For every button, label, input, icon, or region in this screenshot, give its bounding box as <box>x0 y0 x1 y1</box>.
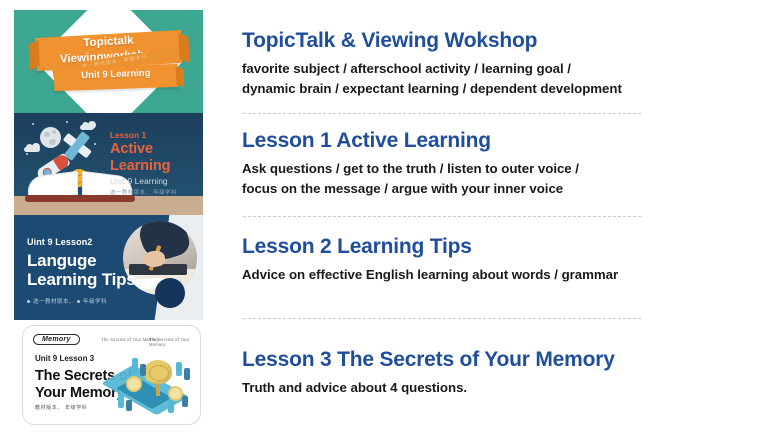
section-title: Lesson 2 Learning Tips <box>242 234 766 260</box>
section-body-line1: favorite subject / afterschool activity … <box>242 61 571 76</box>
thumbnail-unit: Unit 9 Learning <box>110 176 203 186</box>
section-body: Advice on effective English learning abo… <box>242 265 766 285</box>
cloud-icon <box>24 147 40 152</box>
section-title: Lesson 3 The Secrets of Your Memory <box>242 347 766 373</box>
decorative-circle <box>155 278 185 308</box>
section-body-line2: dynamic brain / expectant learning / dep… <box>242 81 622 96</box>
thumbnail-lesson-2-language-learning-tips[interactable]: Uint 9 Lesson2 Languge Learning Tips 选一教… <box>14 215 203 320</box>
section-divider <box>243 113 641 114</box>
thumbnail-topictalk-viewing-workshop[interactable]: Topictalk Viewingworkshop 选一教材版本、年级学科 Un… <box>14 10 203 113</box>
outline-panel: TopicTalk & Viewing Wokshop favorite sub… <box>242 0 780 438</box>
section-body: favorite subject / afterschool activity … <box>242 59 766 98</box>
data-bar <box>140 364 146 376</box>
star-icon <box>94 143 96 145</box>
data-bar <box>182 396 188 407</box>
outline-section-lesson-3: Lesson 3 The Secrets of Your Memory Trut… <box>242 347 766 398</box>
cloud-icon <box>80 125 94 130</box>
star-icon <box>32 123 34 125</box>
thumbnail-text-block: Lesson 1 Active Learning Unit 9 Learning… <box>110 131 203 196</box>
section-title: Lesson 1 Active Learning <box>242 128 766 154</box>
data-bar <box>184 368 190 380</box>
data-bar <box>126 400 132 411</box>
thumbnail-title-line1: Topictalk <box>83 35 134 50</box>
thumbnail-title: Active Learning <box>110 141 203 175</box>
gear-icon <box>168 386 183 401</box>
subtitle-ribbon: Unit 9 Learning <box>54 64 179 91</box>
thumbnail-title: Languge Learning Tips <box>27 251 139 289</box>
thumbnail-kicker: Lesson 1 <box>110 131 203 140</box>
thumbnail-cn-note: 选一教材版本、 年级学科 <box>110 188 203 196</box>
section-body-line1: Truth and advice about 4 questions. <box>242 380 467 395</box>
section-body-line1: Advice on effective English learning abo… <box>242 267 618 282</box>
section-title: TopicTalk & Viewing Wokshop <box>242 28 766 54</box>
data-bar <box>176 362 182 376</box>
cn-note-2: 年级学科 <box>83 299 107 305</box>
brain-icon <box>144 360 172 384</box>
data-bar <box>132 358 138 374</box>
section-body: Truth and advice about 4 questions. <box>242 378 766 398</box>
slide-canvas: Topictalk Viewingworkshop 选一教材版本、年级学科 Un… <box>0 0 780 438</box>
star-icon <box>66 121 68 123</box>
gear-icon <box>126 376 142 392</box>
thumbnail-unit: Unit 9 Lesson 3 <box>35 354 94 363</box>
thumbnail-title-line2: Learning Tips <box>27 270 136 289</box>
thumbnail-cn-note: 选一教材版本、 年级学科 <box>27 297 139 305</box>
cn-note-1: 选一教材版本、 <box>33 299 75 305</box>
thumbnail-cn-note: 教材版本、 年级学科 <box>35 404 87 411</box>
star-icon <box>26 153 28 155</box>
memory-badge: Memory <box>33 334 80 345</box>
thumbnail-title-line1: Languge <box>27 251 96 270</box>
data-bar <box>168 400 174 413</box>
brain-network-illustration <box>106 342 194 418</box>
thumbnail-lesson-3-secrets-of-your-memory[interactable]: Memory The Secrets of Your Memory The Se… <box>22 325 201 425</box>
outline-section-lesson-2: Lesson 2 Learning Tips Advice on effecti… <box>242 234 766 285</box>
thumbnail-subtitle: Unit 9 Learning <box>54 67 178 82</box>
slide-thumbnail-column: Topictalk Viewingworkshop 选一教材版本、年级学科 Un… <box>0 0 232 438</box>
section-body-line1: Ask questions / get to the truth / liste… <box>242 161 579 176</box>
thumbnail-kicker: Uint 9 Lesson2 <box>27 237 139 247</box>
outline-section-lesson-1: Lesson 1 Active Learning Ask questions /… <box>242 128 766 198</box>
thumbnail-text-block: Uint 9 Lesson2 Languge Learning Tips 选一教… <box>27 237 139 305</box>
section-divider <box>243 318 641 319</box>
data-bar <box>118 394 124 408</box>
section-body-line2: focus on the message / argue with your i… <box>242 181 563 196</box>
moon-icon <box>40 127 61 148</box>
section-body: Ask questions / get to the truth / liste… <box>242 159 766 198</box>
brain-stem <box>156 382 160 396</box>
outline-section-topictalk: TopicTalk & Viewing Wokshop favorite sub… <box>242 28 766 98</box>
section-divider <box>243 216 641 217</box>
thumbnail-lesson-1-active-learning[interactable]: Lesson 1 Active Learning Unit 9 Learning… <box>14 113 203 215</box>
